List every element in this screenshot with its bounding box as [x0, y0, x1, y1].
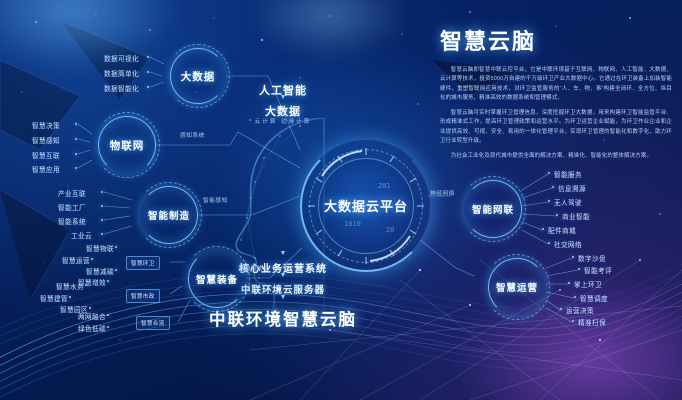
- leaf-data-simplification: 数据简单化: [104, 68, 139, 78]
- leaf-smart-dispatch: 智慧调度: [580, 293, 608, 303]
- leaf-dot: [75, 138, 77, 140]
- leaf-dot: [115, 246, 117, 248]
- leaf-info-traceability: 信息溯源: [558, 183, 586, 193]
- node-iot[interactable]: 物联网: [98, 116, 156, 174]
- leaf-social-network: 社交网络: [554, 239, 582, 249]
- leaf-smart-assessment: 智能考评: [584, 265, 612, 275]
- node-smart-connected[interactable]: 智能网联: [464, 180, 522, 238]
- leaf-dot: [75, 153, 77, 155]
- node-smart-manufacturing[interactable]: 智能制造: [140, 186, 198, 244]
- leaf-smart-interconnect: 智慧互联: [32, 150, 60, 160]
- panel-title: 智慧云脑: [440, 24, 672, 56]
- hub-top-sublabel: 云计算 边缘计算: [0, 117, 624, 125]
- connector-label-smart-perception: 智能感知: [203, 195, 228, 204]
- chip-smart-municipal[interactable]: 智慧市政: [126, 289, 160, 303]
- node-big-data[interactable]: 大数据: [170, 48, 226, 104]
- hub-label: 大数据云平台: [300, 196, 432, 215]
- connector-label-neural-network: 神经网络: [430, 188, 455, 197]
- leaf-data-visualization: 数据可视化: [104, 53, 139, 63]
- leaf-dot: [548, 200, 550, 202]
- leaf-precise-cleaning: 精准扫保: [578, 317, 606, 327]
- leaf-dot: [147, 71, 149, 73]
- leaf-business-intelligence: 商业智能: [562, 211, 590, 221]
- node-label: 智慧装备: [196, 272, 238, 286]
- connector-label-perception-system: 感知系统: [180, 130, 205, 139]
- leaf-dot: [101, 219, 103, 221]
- light-streak-top-center: [250, 0, 410, 60]
- leaf-dot: [101, 191, 103, 193]
- leaf-dot: [548, 242, 550, 244]
- leaf-dot: [101, 233, 103, 235]
- chip-smart-sanitation[interactable]: 智慧环卫: [126, 256, 160, 270]
- hub-arrow-1: ▼: [0, 94, 624, 101]
- leaf-smart-system: 智能系统: [58, 216, 86, 226]
- leaf-operation-decision: 运营决策: [566, 305, 594, 315]
- infographic-canvas: 智慧云脑 智慧云脑即智慧中联云控平台，它是中联环境基于互联网、物联网、人工智能、…: [0, 0, 682, 400]
- leaf-dot: [147, 56, 149, 58]
- leaf-smart-iot: 智慧物联: [86, 243, 114, 253]
- node-smart-operation[interactable]: 智慧运营: [488, 258, 546, 316]
- leaf-industrial-cloud: 工业云: [71, 230, 92, 240]
- svg-text:201: 201: [378, 182, 391, 190]
- leaf-dot: [75, 167, 77, 169]
- leaf-smart-application: 智慧应用: [32, 164, 60, 174]
- leaf-autonomous-driving: 无人驾驶: [554, 197, 582, 207]
- node-smart-equipment[interactable]: 智慧装备: [188, 250, 246, 308]
- leaf-dot: [101, 205, 103, 207]
- leaf-smart-factory: 智能工厂: [58, 202, 86, 212]
- leaf-dot: [556, 214, 558, 216]
- chip-smart-convergence[interactable]: 智慧合流: [136, 316, 170, 330]
- leaf-industry-interconnect: 产业互联: [58, 188, 86, 198]
- leaf-digital-sandbox: 数字沙盘: [578, 253, 606, 263]
- node-label: 智慧运营: [496, 280, 538, 294]
- leaf-smart-service: 智能服务: [554, 169, 582, 179]
- leaf-dot: [552, 186, 554, 188]
- svg-text:20: 20: [386, 226, 394, 234]
- leaf-smart-decision: 智慧决策: [32, 120, 60, 130]
- leaf-data-intelligence: 数据智能化: [104, 83, 139, 93]
- node-label: 物联网: [110, 138, 145, 153]
- leaf-dot: [542, 228, 544, 230]
- leaf-smart-water: 智慧水务: [56, 281, 84, 291]
- light-streak-top-left: [0, 0, 180, 70]
- leaf-two-network-integration: 两网融合: [78, 311, 106, 321]
- leaf-smart-carbon-reduction: 智慧减碳: [86, 266, 114, 276]
- panel-paragraph-3: 为社会工业化及现代城市提供全面的解决方案、精准化、智能化的整体解决方案。: [440, 152, 672, 161]
- leaf-parts-mall: 配件商城: [548, 225, 576, 235]
- leaf-smart-construction-mgmt: 智慧建管: [40, 293, 68, 303]
- svg-text:1010: 1010: [344, 220, 361, 228]
- leaf-green-low-carbon: 绿色低碳: [78, 323, 106, 333]
- leaf-smart-sensing: 智慧感知: [32, 135, 60, 145]
- leaf-mobile-sanitation: 掌上环卫: [574, 279, 602, 289]
- node-label: 智能网联: [472, 202, 514, 216]
- leaf-smart-operation-small: 智慧运营: [62, 255, 90, 265]
- node-label: 智能制造: [148, 208, 190, 222]
- leaf-dot: [548, 172, 550, 174]
- node-label: 大数据: [181, 69, 216, 84]
